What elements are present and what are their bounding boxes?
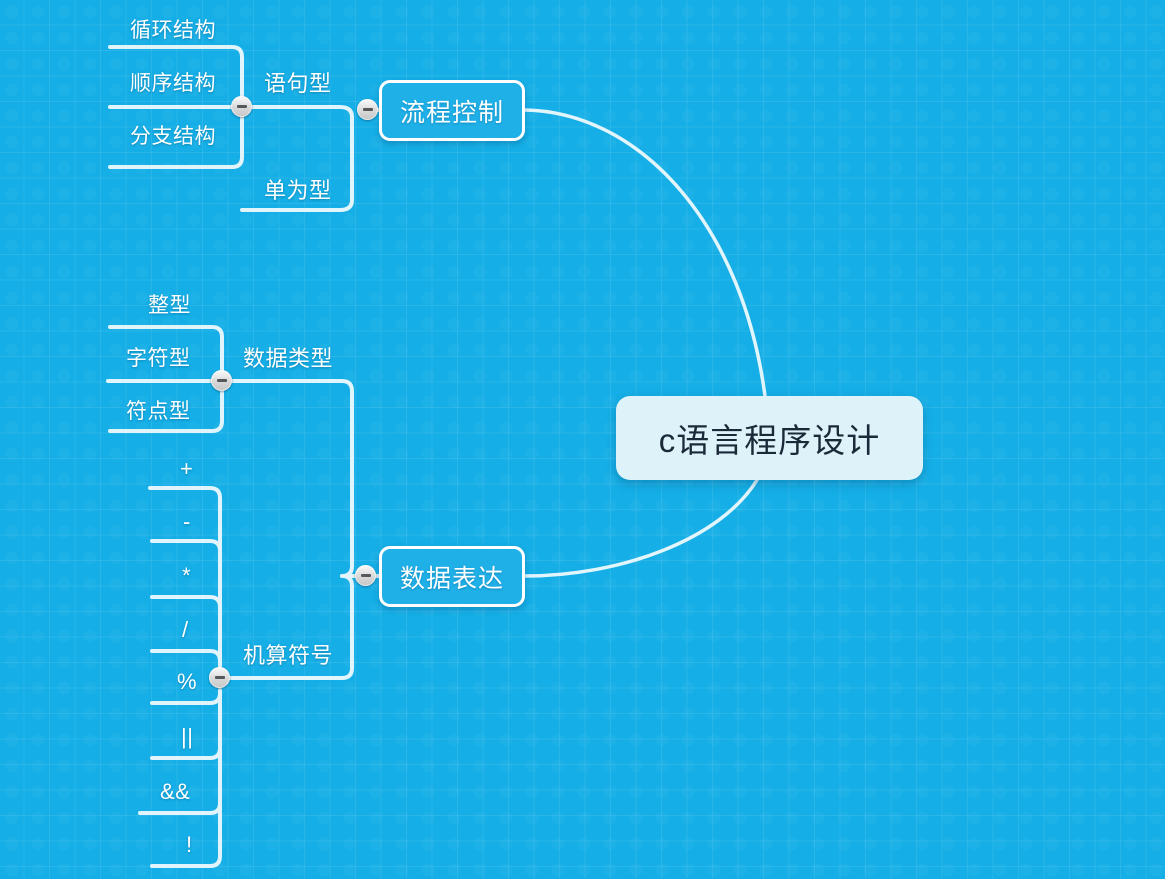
central-topic[interactable]: c语言程序设计 xyxy=(616,396,923,480)
leaf-operator-modulo[interactable]: % xyxy=(177,671,197,693)
leaf-branch-structure[interactable]: 分支结构 xyxy=(130,126,216,147)
collapse-button-data-type[interactable] xyxy=(211,370,232,391)
link-op-or xyxy=(152,748,220,758)
topic-flow-control[interactable]: 流程控制 xyxy=(379,80,525,141)
leaf-operator-logical-and[interactable]: && xyxy=(160,781,190,803)
leaf-operator-logical-or[interactable]: || xyxy=(181,726,193,748)
branch-label-operators[interactable]: 机算符号 xyxy=(243,645,333,667)
link-op-and xyxy=(140,803,220,813)
link-flow-to-central xyxy=(525,110,766,404)
leaf-integer-type[interactable]: 整型 xyxy=(148,295,191,316)
link-data-to-central xyxy=(525,480,757,576)
leaf-operator-logical-not[interactable]: ! xyxy=(186,834,193,856)
leaf-operator-minus[interactable]: - xyxy=(183,511,191,533)
leaf-operator-plus[interactable]: + xyxy=(180,458,193,480)
collapse-button-flow-control[interactable] xyxy=(357,99,378,120)
collapse-button-data-expression[interactable] xyxy=(355,565,376,586)
leaf-operator-multiply[interactable]: * xyxy=(182,565,191,587)
collapse-button-statement-type[interactable] xyxy=(231,96,252,117)
branch-label-data-type[interactable]: 数据类型 xyxy=(243,348,333,370)
link-datatype-to-data xyxy=(231,381,372,576)
branch-label-single-type[interactable]: 单为型 xyxy=(264,180,332,202)
collapse-button-operators[interactable] xyxy=(209,667,230,688)
leaf-operator-divide[interactable]: / xyxy=(182,619,189,641)
leaf-loop-structure[interactable]: 循环结构 xyxy=(130,20,216,41)
leaf-char-type[interactable]: 字符型 xyxy=(126,348,191,369)
leaf-sequence-structure[interactable]: 顺序结构 xyxy=(130,73,216,94)
link-op-div xyxy=(152,651,220,661)
topic-data-expression[interactable]: 数据表达 xyxy=(379,546,525,607)
leaf-float-type[interactable]: 符点型 xyxy=(126,401,191,422)
link-op-mod xyxy=(152,693,220,703)
link-op-mul xyxy=(152,597,220,607)
link-op-minus xyxy=(152,541,220,551)
branch-label-statement-type[interactable]: 语句型 xyxy=(264,73,332,95)
mindmap-canvas: 循环结构 顺序结构 分支结构 语句型 单为型 流程控制 整型 字符型 符点型 数… xyxy=(0,0,1165,879)
